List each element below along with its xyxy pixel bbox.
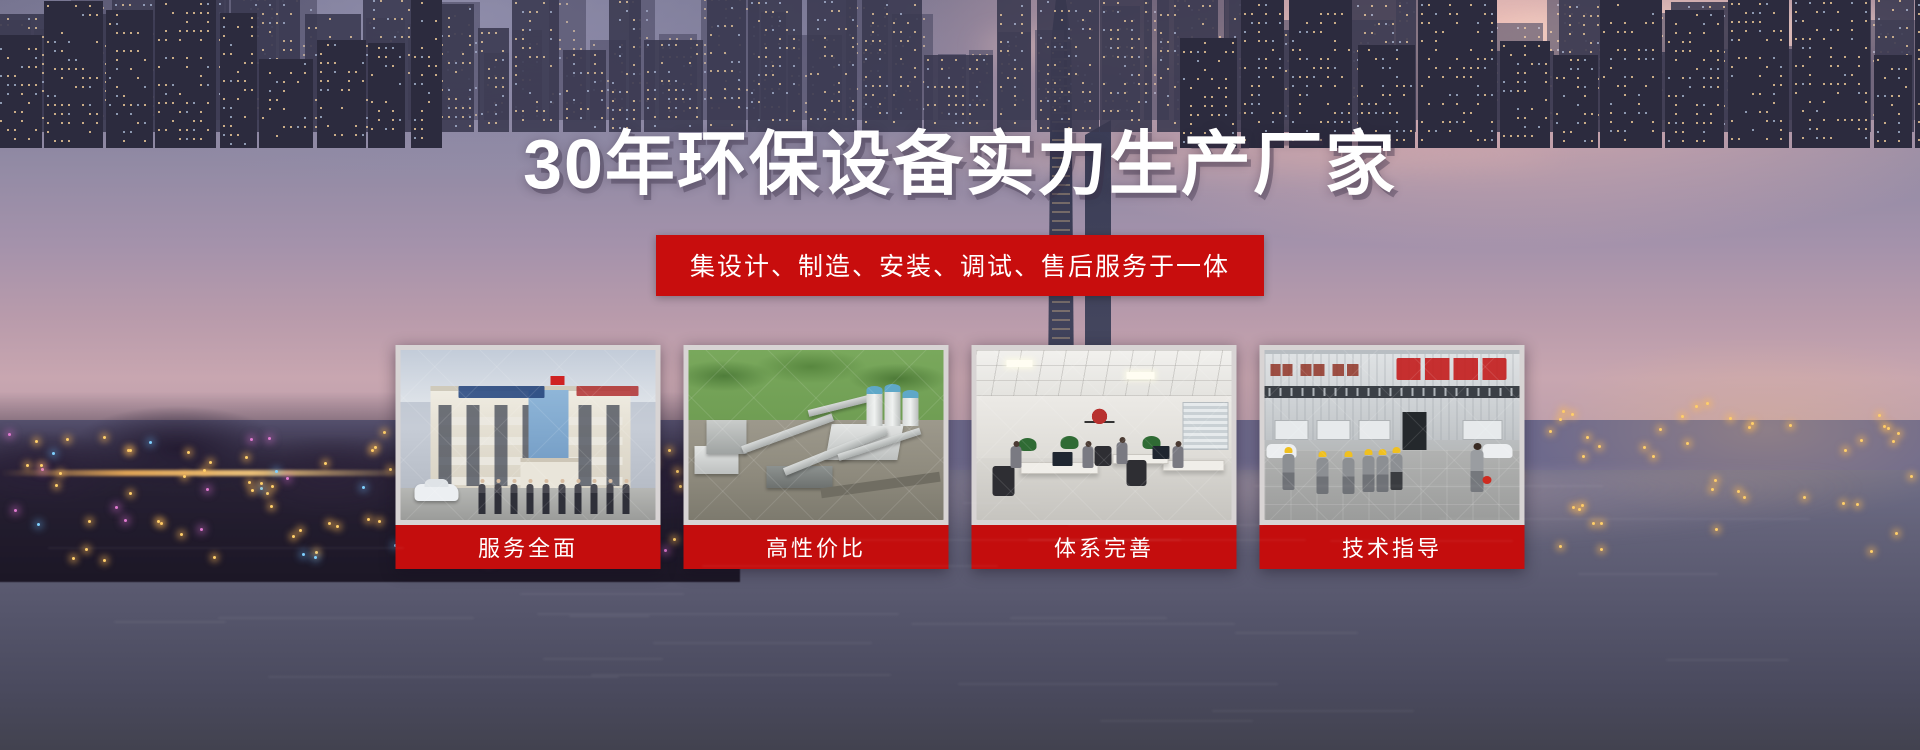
feature-card[interactable]: 服务全面 xyxy=(396,345,661,569)
feature-card-label: 高性价比 xyxy=(684,525,949,569)
office-interior-photo xyxy=(977,350,1232,520)
feature-card-label: 技术指导 xyxy=(1260,525,1525,569)
feature-card-label: 服务全面 xyxy=(396,525,661,569)
subtitle-badge: 集设计、制造、安装、调试、售后服务于一体 xyxy=(656,235,1264,296)
building-phone-sign xyxy=(577,386,639,396)
factory-workers-photo xyxy=(1265,350,1520,520)
industrial-plant-aerial-photo xyxy=(689,350,944,520)
building-sign xyxy=(459,386,545,398)
banner-content: 30年环保设备实力生产厂家 集设计、制造、安装、调试、售后服务于一体 xyxy=(0,0,1920,750)
feature-card-list: 服务全面 xyxy=(396,345,1525,569)
feature-card[interactable]: 体系完善 xyxy=(972,345,1237,569)
flag-icon xyxy=(551,376,565,385)
feature-card[interactable]: 技术指导 xyxy=(1260,345,1525,569)
page-title: 30年环保设备实力生产厂家 xyxy=(0,108,1920,209)
feature-card-label: 体系完善 xyxy=(972,525,1237,569)
hero-banner: 30年环保设备实力生产厂家 集设计、制造、安装、调试、售后服务于一体 xyxy=(0,0,1920,750)
wall-logo xyxy=(1085,408,1115,432)
feature-card[interactable]: 高性价比 xyxy=(684,345,949,569)
factory-sign xyxy=(1397,358,1507,380)
company-office-building-photo xyxy=(401,350,656,520)
